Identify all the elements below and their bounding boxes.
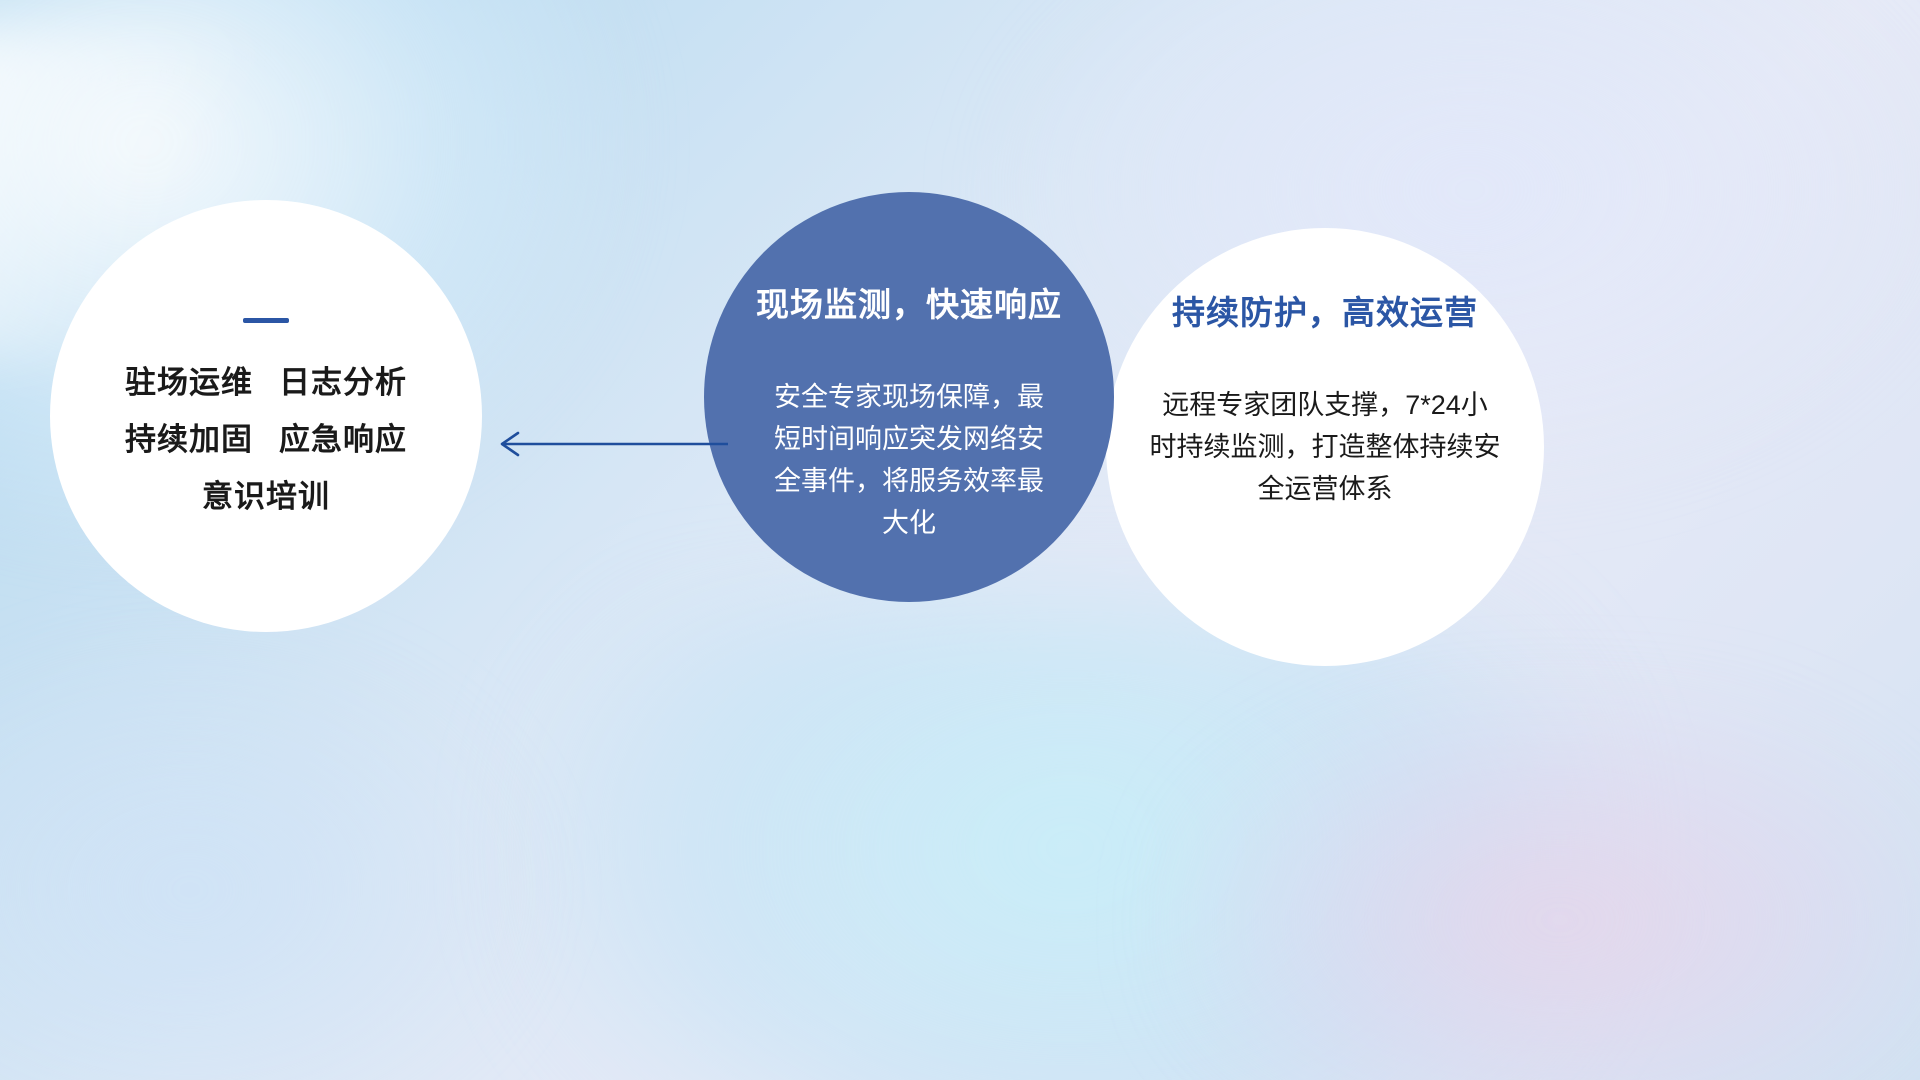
capabilities-list: 驻场运维日志分析 持续加固应急响应 意识培训 [125, 367, 407, 512]
capabilities-circle[interactable]: 驻场运维日志分析 持续加固应急响应 意识培训 [50, 200, 482, 632]
continuous-protection-circle[interactable]: 持续防护，高效运营 远程专家团队支撑，7*24小时持续监测，打造整体持续安全运营… [1106, 228, 1544, 666]
leftward-arrow-icon [490, 420, 730, 468]
capability-label: 持续加固 [125, 422, 253, 457]
capability-label: 日志分析 [279, 365, 407, 400]
divider-rule [243, 318, 289, 323]
capability-label: 意识培训 [202, 479, 330, 514]
list-item: 驻场运维日志分析 [125, 367, 407, 398]
background-glow-bottom-left [0, 640, 540, 1080]
slide-canvas: 驻场运维日志分析 持续加固应急响应 意识培训 持续防护，高效运营 远程专家团队支… [0, 0, 1920, 1080]
right-circle-title: 持续防护，高效运营 [1172, 296, 1478, 329]
list-item: 持续加固应急响应 [125, 424, 407, 455]
background-glow-bottom-right [1180, 700, 1920, 1080]
list-item: 意识培训 [202, 481, 330, 512]
onsite-monitoring-circle[interactable]: 现场监测，快速响应 安全专家现场保障，最短时间响应突发网络安全事件，将服务效率最… [704, 192, 1114, 602]
middle-circle-title: 现场监测，快速响应 [756, 288, 1062, 321]
capability-label: 驻场运维 [125, 365, 253, 400]
right-circle-body: 远程专家团队支撑，7*24小时持续监测，打造整体持续安全运营体系 [1149, 385, 1501, 511]
capability-label: 应急响应 [279, 422, 407, 457]
middle-circle-body: 安全专家现场保障，最短时间响应突发网络安全事件，将服务效率最大化 [766, 377, 1052, 544]
